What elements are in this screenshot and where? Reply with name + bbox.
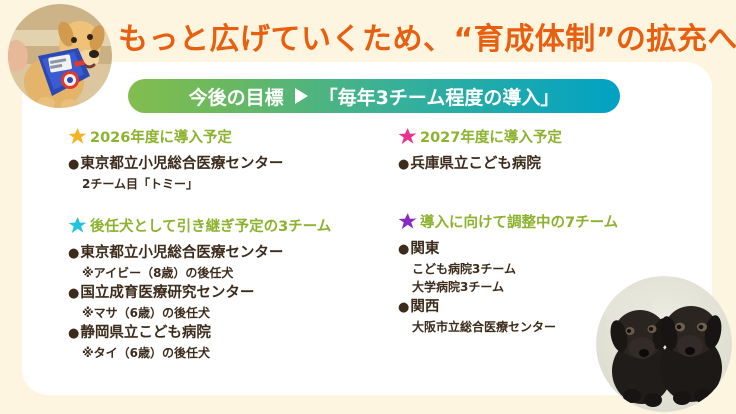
list-item: ●静岡県立こども病院 ※タイ（6歳）の後任犬 xyxy=(68,323,388,362)
bullet-icon: ● xyxy=(68,246,79,261)
bullet-icon: ● xyxy=(68,286,79,301)
section-heading-text: 2027年度に導入予定 xyxy=(420,126,562,147)
star-icon xyxy=(398,212,417,231)
list-item: ●東京都立小児総合医療センター ※アイビー（8歳）の後任犬 xyxy=(68,243,388,282)
list-item-main: ●静岡県立こども病院 xyxy=(68,323,388,344)
section-2026: 2026年度に導入予定 ●東京都立小児総合医療センター 2チーム目「トミー」 xyxy=(68,126,388,193)
list-item: ●国立成育医療研究センター ※マサ（6歳）の後任犬 xyxy=(68,283,388,322)
goal-banner-value: 「毎年3チーム程度の導入」 xyxy=(319,83,560,110)
list-item-main-text: 兵庫県立こども病院 xyxy=(410,156,541,172)
list-item-main: ●東京都立小児総合医療センター xyxy=(68,243,388,264)
play-triangle-icon xyxy=(295,88,308,104)
star-icon xyxy=(68,127,87,146)
list-item: ●兵庫県立こども病院 xyxy=(398,154,698,175)
goal-banner-label: 今後の目標 xyxy=(189,83,284,110)
list-item-main-text: 関西 xyxy=(410,299,439,315)
bullet-icon: ● xyxy=(68,326,79,341)
list-item-main-text: 東京都立小児総合医療センター xyxy=(80,245,283,261)
list-item-main: ●兵庫県立こども病院 xyxy=(398,154,698,175)
page-title: もっと広げていくため、“育成体制”の拡充へ！ xyxy=(118,12,728,60)
section-heading-adjustment: 導入に向けて調整中の7チーム xyxy=(398,211,698,232)
section-heading-text: 後任犬として引き継ぎ予定の3チーム xyxy=(90,215,331,236)
section-heading-text: 2026年度に導入予定 xyxy=(90,126,232,147)
list-item-main-text: 東京都立小児総合医療センター xyxy=(80,156,283,172)
star-icon xyxy=(398,127,417,146)
list-item-sub: こども病院3チーム xyxy=(398,260,698,278)
list-item-sub: ※アイビー（8歳）の後任犬 xyxy=(68,264,388,282)
left-column: 2026年度に導入予定 ●東京都立小児総合医療センター 2チーム目「トミー」 後… xyxy=(68,126,388,376)
list-item-main: ●東京都立小児総合医療センター xyxy=(68,154,388,175)
bullet-icon: ● xyxy=(398,300,409,315)
slide-root: もっと広げていくため、“育成体制”の拡充へ！ 今後の目標 「毎年3チーム程度の導… xyxy=(0,0,736,414)
black-labrador-puppies-photo-bottom-right xyxy=(596,276,732,412)
list-item-sub: 2チーム目「トミー」 xyxy=(68,175,388,193)
labrador-puppies-image xyxy=(596,276,732,412)
facility-dog-image xyxy=(8,4,112,108)
list-item-main-text: 関東 xyxy=(410,241,439,257)
list-item: ●東京都立小児総合医療センター 2チーム目「トミー」 xyxy=(68,154,388,193)
list-item-main-text: 静岡県立こども病院 xyxy=(80,325,211,341)
section-successor-teams: 後任犬として引き継ぎ予定の3チーム ●東京都立小児総合医療センター ※アイビー（… xyxy=(68,215,388,362)
star-icon xyxy=(68,216,87,235)
section-heading-successor: 後任犬として引き継ぎ予定の3チーム xyxy=(68,215,388,236)
bullet-icon: ● xyxy=(68,157,79,172)
list-item-main-text: 国立成育医療研究センター xyxy=(80,285,254,301)
bullet-icon: ● xyxy=(398,242,409,257)
section-heading-2027: 2027年度に導入予定 xyxy=(398,126,698,147)
bullet-icon: ● xyxy=(398,157,409,172)
list-item-sub: ※タイ（6歳）の後任犬 xyxy=(68,344,388,362)
section-2027: 2027年度に導入予定 ●兵庫県立こども病院 xyxy=(398,126,698,175)
list-item-main: ●関東 xyxy=(398,239,698,260)
list-item-main: ●国立成育医療研究センター xyxy=(68,283,388,304)
goal-banner: 今後の目標 「毎年3チーム程度の導入」 xyxy=(128,79,620,113)
list-item-sub: ※マサ（6歳）の後任犬 xyxy=(68,304,388,322)
section-heading-2026: 2026年度に導入予定 xyxy=(68,126,388,147)
facility-dog-photo-top-left xyxy=(8,4,112,108)
section-heading-text: 導入に向けて調整中の7チーム xyxy=(420,211,618,232)
